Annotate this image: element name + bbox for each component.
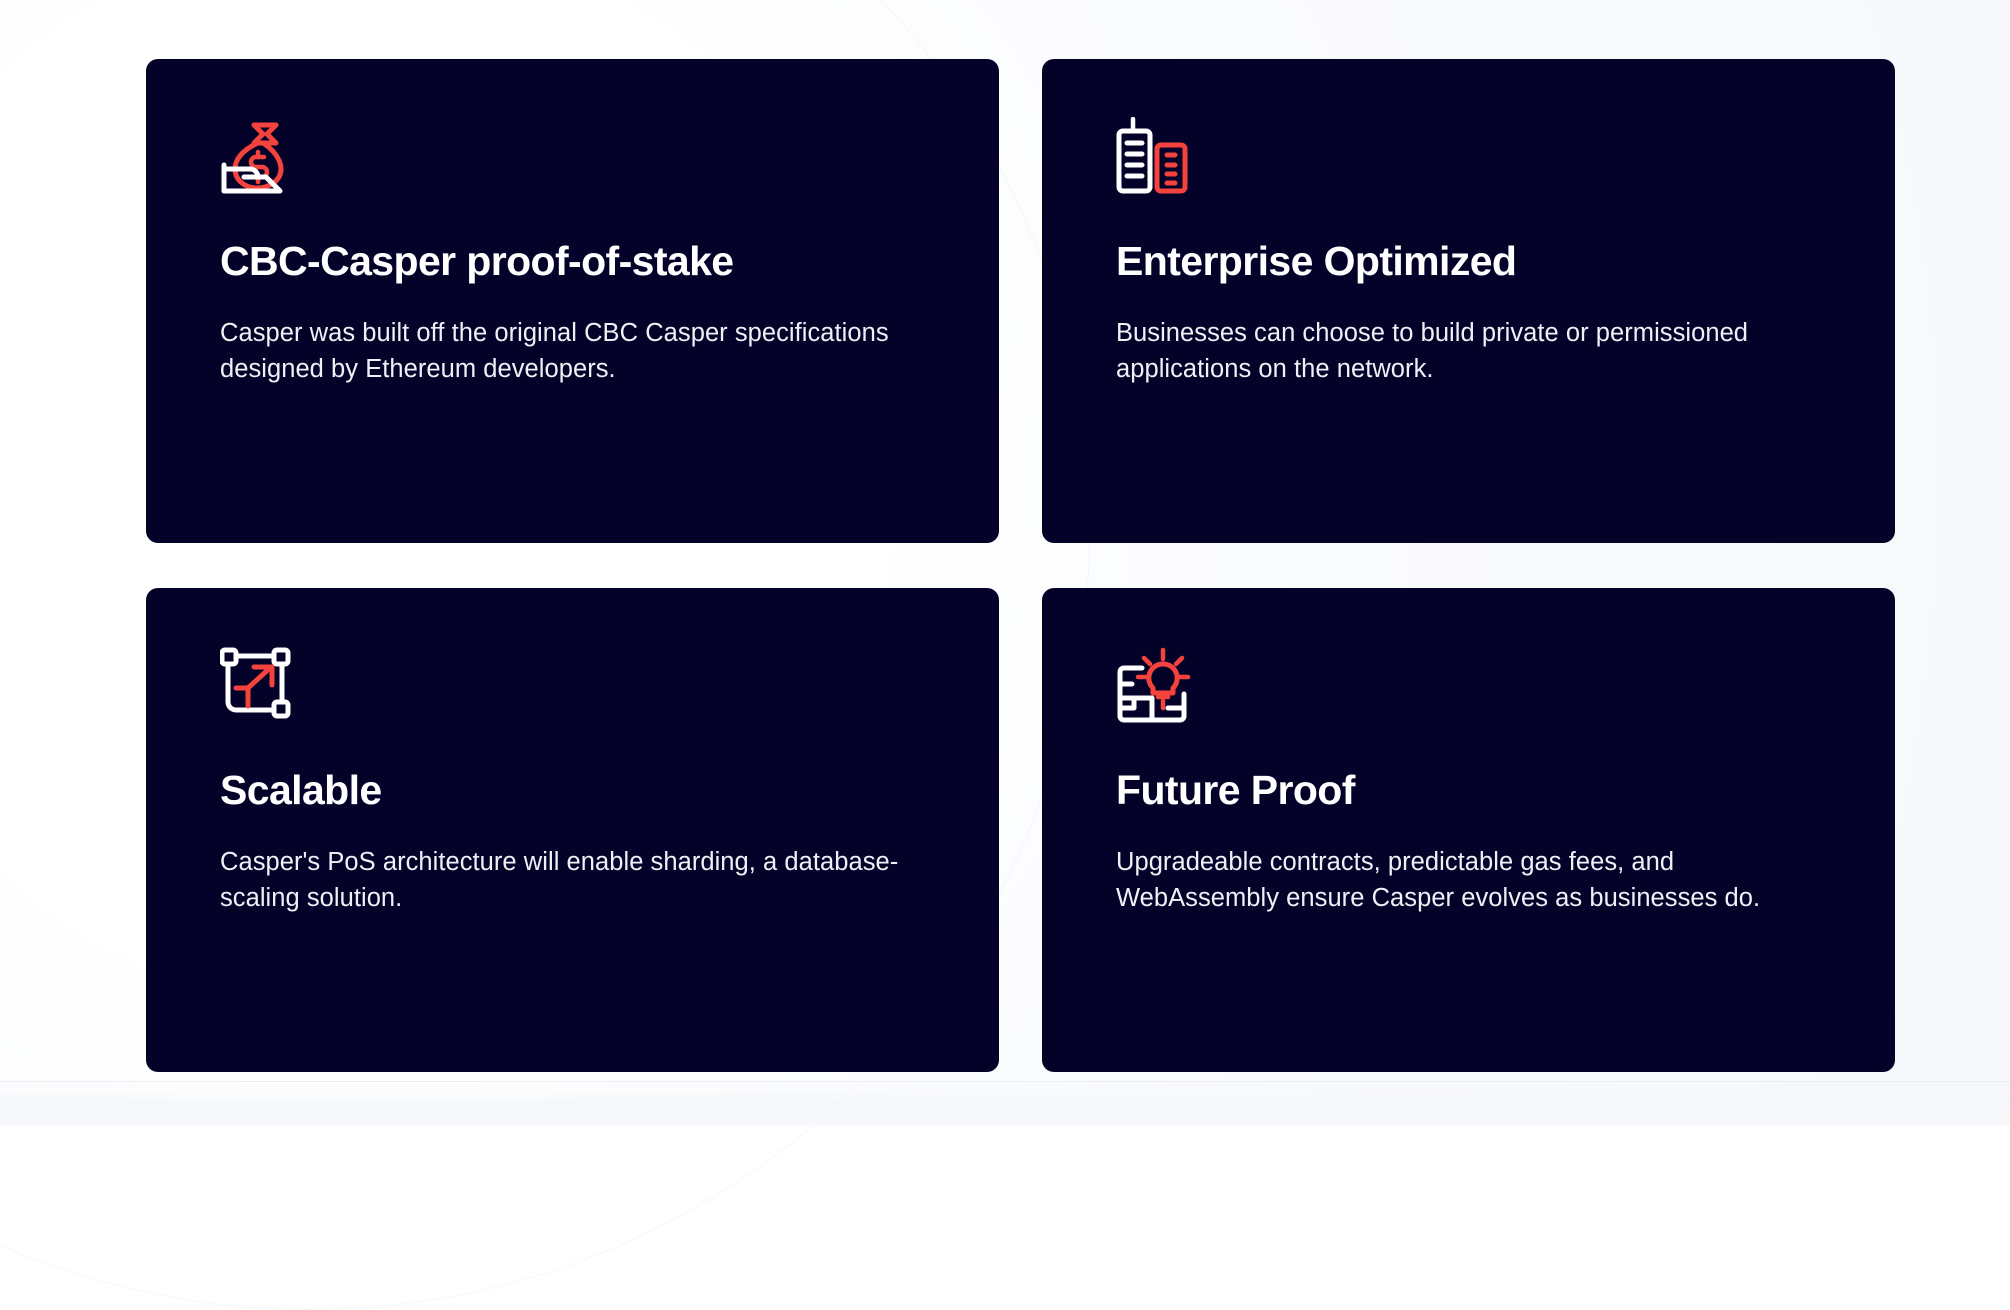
feature-card-description: Upgradeable contracts, predictable gas f…: [1116, 844, 1796, 916]
feature-card-future-proof[interactable]: Future Proof Upgradeable contracts, pred…: [1042, 588, 1895, 1072]
feature-card-description: Businesses can choose to build private o…: [1116, 315, 1796, 387]
background-bottom-band: [0, 1081, 2010, 1126]
feature-card-scalable[interactable]: Scalable Casper's PoS architecture will …: [146, 588, 999, 1072]
feature-card-description: Casper was built off the original CBC Ca…: [220, 315, 900, 387]
feature-card-title: Enterprise Optimized: [1116, 239, 1821, 283]
feature-cards-page: CBC-Casper proof-of-stake Casper was bui…: [0, 0, 2010, 1126]
feature-card-title: CBC-Casper proof-of-stake: [220, 239, 925, 283]
feature-card-title: Future Proof: [1116, 768, 1821, 812]
resize-expand-arrow-icon: [220, 646, 306, 728]
lightbulb-blueprint-icon: [1116, 646, 1202, 728]
feature-card-title: Scalable: [220, 768, 925, 812]
office-buildings-icon: [1116, 117, 1202, 199]
feature-card-description: Casper's PoS architecture will enable sh…: [220, 844, 900, 916]
feature-card-cbc-casper-proof-of-stake[interactable]: CBC-Casper proof-of-stake Casper was bui…: [146, 59, 999, 543]
money-bag-in-hand-icon: [220, 117, 306, 199]
feature-cards-grid: CBC-Casper proof-of-stake Casper was bui…: [146, 59, 1895, 1072]
feature-card-enterprise-optimized[interactable]: Enterprise Optimized Businesses can choo…: [1042, 59, 1895, 543]
